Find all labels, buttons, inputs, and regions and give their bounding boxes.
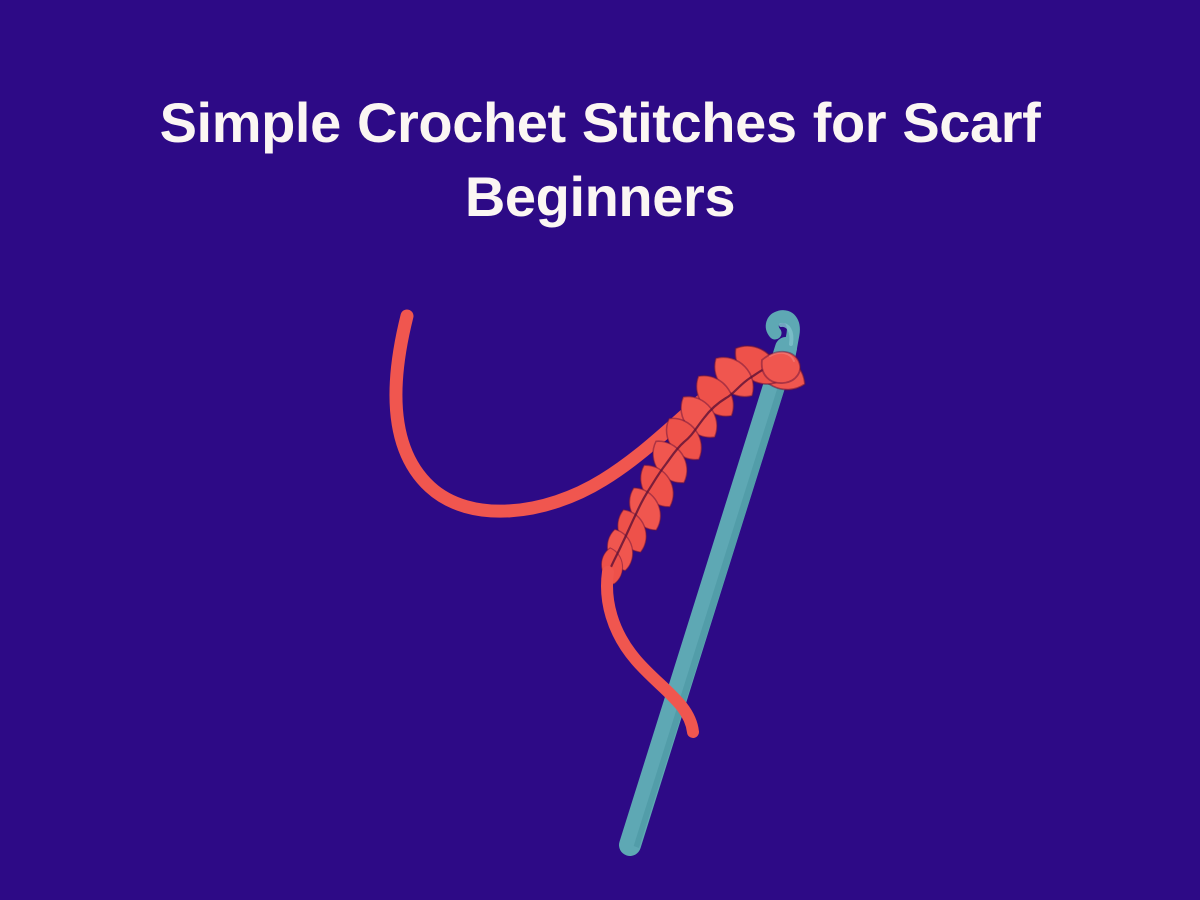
yarn-loop-on-hook	[762, 352, 800, 383]
title-block: Simple Crochet Stitches for Scarf Beginn…	[0, 86, 1200, 234]
page-title: Simple Crochet Stitches for Scarf Beginn…	[64, 86, 1136, 234]
poster-canvas: Simple Crochet Stitches for Scarf Beginn…	[0, 0, 1200, 900]
